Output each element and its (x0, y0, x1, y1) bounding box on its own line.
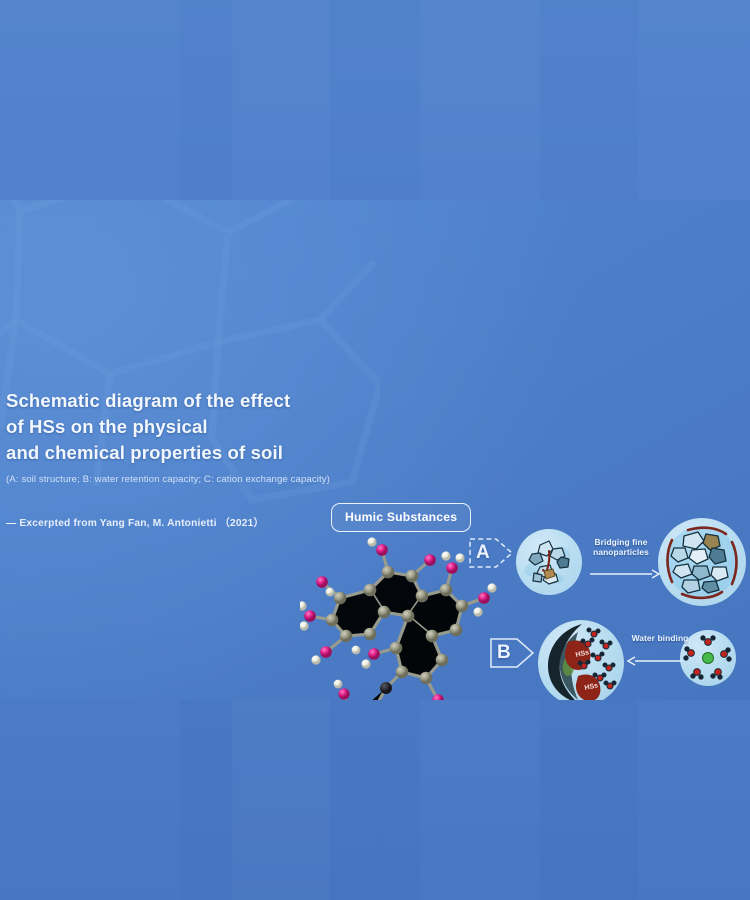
caption-block: Schematic diagram of the effect of HSs o… (6, 388, 346, 529)
top-frame-band (0, 0, 750, 200)
panel-a-letter: A (476, 542, 490, 564)
figure-title-line-3: and chemical properties of soil (6, 440, 346, 466)
panel-b-process-caption: Water binding (629, 634, 691, 644)
panel-b-letter: B (497, 642, 511, 664)
panel-a-process-caption: Bridging fine nanoparticles (585, 538, 657, 558)
panel-a-caption-line-2: nanoparticles (585, 548, 657, 558)
panel-a-left-bubble-loose-aggregate (516, 529, 582, 595)
illustration-panel: Schematic diagram of the effect of HSs o… (0, 200, 750, 700)
panel-b-left-bubble-hs-water-retention: HSs HSs (538, 620, 624, 700)
figure-subtitle: (A: soil structure; B: water retention c… (6, 474, 346, 486)
panel-a-chevron: A (468, 533, 514, 573)
panel-a-arrow-right (590, 568, 660, 580)
humic-substances-label: Humic Substances (331, 503, 471, 532)
panel-b-arrow-left (628, 655, 682, 667)
figure-title-line-1: Schematic diagram of the effect (6, 388, 346, 414)
figure-canvas: Schematic diagram of the effect of HSs o… (0, 0, 750, 900)
panel-a-right-bubble-bridged-aggregate (658, 518, 746, 606)
figure-title-line-2: of HSs on the physical (6, 414, 346, 440)
figure-attribution: — Excerpted from Yang Fan, M. Antonietti… (6, 514, 346, 529)
figure-title: Schematic diagram of the effect of HSs o… (6, 388, 346, 466)
bottom-frame-band (0, 700, 750, 900)
panel-b-chevron: B (489, 633, 535, 673)
